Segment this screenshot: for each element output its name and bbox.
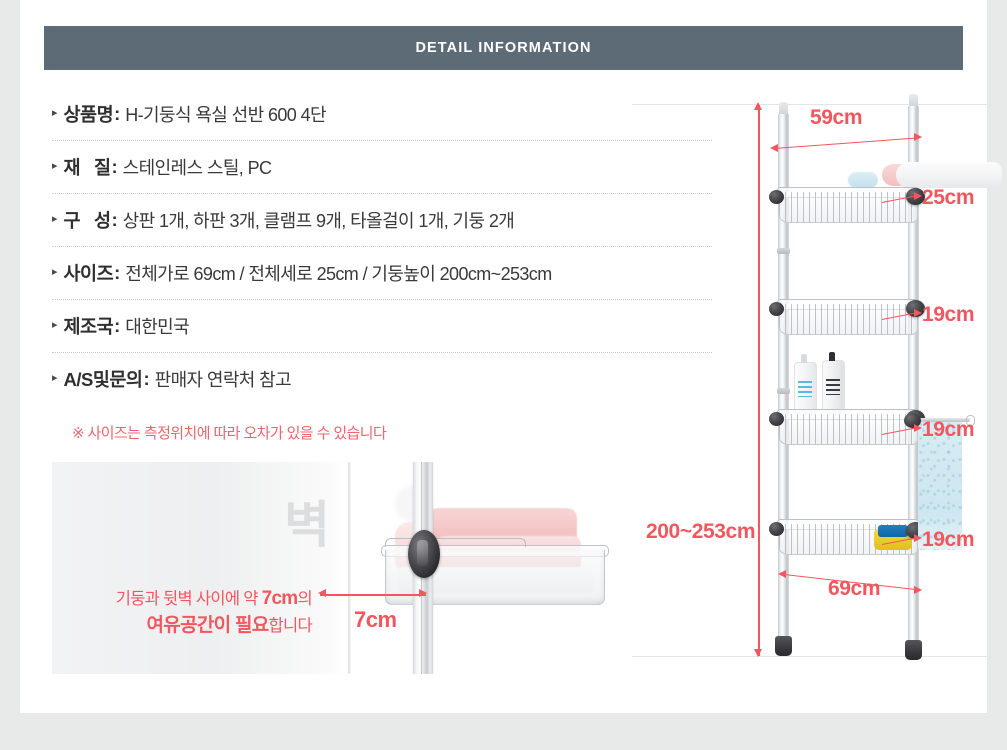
spec-colon: : (114, 315, 120, 337)
rack-shelf-4 (778, 516, 916, 556)
width-top-arrow-right-icon (914, 133, 922, 141)
spec-colon: : (112, 209, 118, 231)
rack-shelf-1 (778, 184, 916, 224)
dimension-label-depth-1: 25cm (922, 186, 974, 210)
spec-label: 상품명 (64, 101, 114, 127)
spec-row-material: ▸ 재 질 : 스테인레스 스틸, PC (52, 141, 712, 194)
shelf2-clamp-left (769, 302, 784, 316)
shelf3-bottle-dark-stripes (826, 379, 840, 395)
height-dimension-line (758, 105, 760, 656)
shelf2-wires (779, 304, 917, 334)
spec-value: 상판 1개, 하판 3개, 클램프 9개, 타올걸이 1개, 기둥 2개 (123, 207, 515, 233)
bullet-icon: ▸ (52, 320, 58, 331)
ceiling-line (632, 104, 987, 105)
product-spec-list: ▸ 상품명 : H-기둥식 욕실 선반 600 4단 ▸ 재 질 : 스테인레스… (52, 88, 712, 405)
width-bottom-arrow-right-icon (914, 586, 922, 594)
callout-line-1: 기둥과 뒷벽 사이에 약 7cm의 (108, 586, 312, 613)
spec-value: H-기둥식 욕실 선반 600 4단 (125, 101, 326, 127)
rack-foot-left (775, 636, 792, 656)
shelf4-sponge (878, 525, 908, 537)
bullet-icon: ▸ (52, 214, 58, 225)
bullet-icon: ▸ (52, 161, 58, 172)
depth-4-arrow-icon (914, 534, 922, 542)
gap-arrow-left-icon (318, 589, 326, 597)
dimension-label-height: 200~253cm (646, 520, 755, 544)
pole-joint-lower (777, 388, 790, 394)
depth-1-arrow-icon (914, 192, 922, 200)
dimension-label-width-bottom: 69cm (828, 577, 880, 601)
spec-label: 사이즈 (64, 260, 114, 286)
spec-colon: : (114, 103, 120, 125)
callout-line-2: 여유공간이 필요합니다 (108, 613, 312, 640)
floor-line (632, 656, 987, 657)
spec-colon: : (143, 368, 149, 390)
shelf3-bottle-dark (822, 360, 845, 414)
gap-arrow-right-icon (419, 589, 427, 597)
bullet-icon: ▸ (52, 108, 58, 119)
spec-value: 대한민국 (125, 313, 189, 339)
spec-value: 판매자 연락처 참고 (155, 366, 291, 392)
rack-dimension-diagram: 200~253cm (632, 88, 987, 673)
gap-dimension-label: 7cm (354, 607, 397, 633)
shelf3-bottle-white-stripes (798, 381, 812, 397)
bullet-icon: ▸ (52, 267, 58, 278)
shelf2-basket (778, 304, 918, 335)
spec-value: 전체가로 69cm / 전체세로 25cm / 기둥높이 200cm~253cm (125, 260, 551, 286)
detail-information-page: DETAIL INFORMATION ▸ 상품명 : H-기둥식 욕실 선반 6… (20, 0, 987, 713)
spec-row-as-inquiry: ▸ A/S및문의 : 판매자 연락처 참고 (52, 353, 712, 405)
spec-row-product-name: ▸ 상품명 : H-기둥식 욕실 선반 600 4단 (52, 88, 712, 141)
spec-row-components: ▸ 구 성 : 상판 1개, 하판 3개, 클램프 9개, 타올걸이 1개, 기… (52, 194, 712, 247)
height-arrow-bottom-icon (754, 649, 762, 657)
spec-value: 스테인레스 스틸, PC (123, 154, 272, 180)
basket-arm-right (435, 538, 526, 547)
spec-label: 구 성 (64, 207, 111, 233)
wall-watermark-label: 벽 (284, 500, 328, 550)
pole-clamp-highlight (417, 540, 428, 566)
callout-text-bold-space: 여유공간이 필요 (147, 615, 269, 636)
gap-dimension-line (320, 594, 426, 596)
shelf3-bottle-white (794, 362, 817, 414)
width-top-dimension-line (774, 137, 920, 149)
rack-shelf-3 (778, 406, 916, 446)
spec-label: A/S및문의 (64, 366, 143, 392)
pole-joint-upper (777, 248, 790, 254)
wall-plane (52, 462, 350, 674)
shelf1-basket (778, 192, 918, 223)
shelf3-bottle-white-cap (801, 354, 807, 363)
spec-row-origin: ▸ 제조국 : 대한민국 (52, 300, 712, 353)
shelf1-blue-item (848, 172, 878, 188)
wall-gap-photo: 벽 (52, 462, 630, 674)
spec-colon: : (112, 156, 118, 178)
callout-text-a: 기둥과 뒷벽 사이에 약 (116, 590, 262, 608)
shelf1-clamp-left (769, 190, 784, 204)
height-arrow-top-icon (754, 102, 762, 110)
spec-colon: : (114, 262, 120, 284)
shelf1-wires (779, 192, 917, 222)
bullet-icon: ▸ (52, 373, 58, 384)
callout-text-c: 합니다 (269, 617, 312, 635)
rack-foot-right (905, 640, 922, 660)
shelf1-white-towels (896, 162, 1002, 188)
wall-gap-callout: 기둥과 뒷벽 사이에 약 7cm의 여유공간이 필요합니다 (108, 586, 312, 640)
dimension-label-depth-3: 19cm (922, 418, 974, 442)
shelf4-clamp-left (769, 522, 784, 536)
page-title: DETAIL INFORMATION (415, 40, 591, 56)
shelf3-bottle-dark-cap (829, 352, 835, 361)
shelf3-wires (779, 414, 917, 444)
callout-text-bold-7cm: 7cm (262, 588, 298, 609)
spec-row-size: ▸ 사이즈 : 전체가로 69cm / 전체세로 25cm / 기둥높이 200… (52, 247, 712, 300)
dimension-label-depth-2: 19cm (922, 303, 974, 327)
shelf3-clamp-left (769, 412, 784, 426)
callout-text-b: 의 (298, 590, 312, 608)
depth-2-arrow-icon (914, 309, 922, 317)
width-bottom-arrow-left-icon (778, 570, 786, 578)
shelf3-basket (778, 414, 918, 445)
detail-information-header: DETAIL INFORMATION (44, 26, 963, 70)
width-top-arrow-left-icon (770, 144, 778, 152)
spec-label: 재 질 (64, 154, 111, 180)
dimension-label-depth-4: 19cm (922, 528, 974, 552)
size-tolerance-note: ※ 사이즈는 측정위치에 따라 오차가 있을 수 있습니다 (72, 422, 386, 443)
dimension-label-width-top: 59cm (810, 106, 862, 130)
rack-closeup-scene (351, 462, 630, 674)
depth-3-arrow-icon (914, 424, 922, 432)
spec-label: 제조국 (64, 313, 114, 339)
